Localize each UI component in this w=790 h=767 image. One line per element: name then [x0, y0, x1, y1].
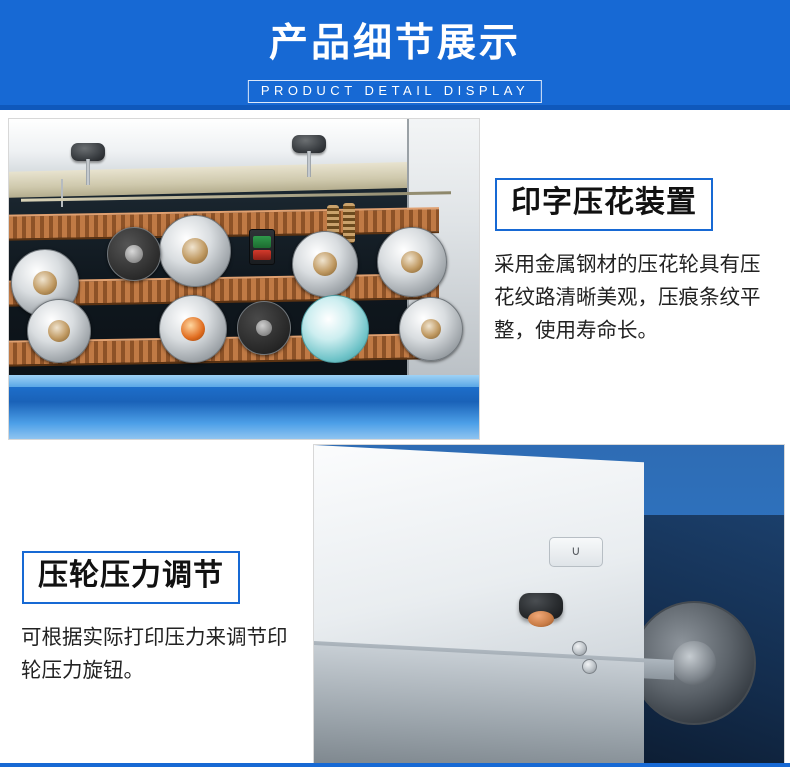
subtitle-frame: PRODUCT DETAIL DISPLAY	[248, 80, 542, 103]
gear-wheel-e	[27, 299, 91, 363]
photo-roller-pressure-adjustment: ∪	[313, 444, 785, 766]
section2-heading: 压轮压力调节	[38, 558, 224, 594]
section1-heading: 印字压花装置	[511, 185, 697, 221]
screw-lower	[582, 659, 597, 674]
section2-heading-box: 压轮压力调节	[22, 551, 240, 604]
adjust-knob-right	[292, 135, 326, 153]
page-subtitle: PRODUCT DETAIL DISPLAY	[261, 83, 529, 99]
gear-wheel-dark-2	[237, 301, 291, 355]
gear-wheel-f	[159, 295, 227, 363]
gear-wheel-a	[159, 215, 231, 287]
header-banner: 产品细节展示 PRODUCT DETAIL DISPLAY	[0, 0, 790, 110]
gear-wheel-teal	[301, 295, 369, 363]
banner-bottom-stripe	[0, 105, 790, 110]
gear-wheel-c	[377, 227, 447, 297]
section2-body: 可根据实际打印压力来调节印轮压力旋钮。	[21, 621, 301, 687]
section1-heading-box: 印字压花装置	[495, 178, 713, 231]
knob-shaft-left	[61, 179, 63, 207]
section1-body: 采用金属钢材的压花轮具有压花纹路清晰美观，压痕条纹平整，使用寿命长。	[494, 248, 778, 347]
adjust-knob-left	[71, 143, 105, 161]
product-detail-page: 产品细节展示 PRODUCT DETAIL DISPLAY	[0, 0, 790, 767]
cover-emblem: ∪	[549, 537, 603, 567]
machine-blue-highlight	[9, 375, 479, 387]
gear-wheel-b	[292, 231, 358, 297]
pressure-adjust-knob	[519, 593, 563, 619]
gear-wheel-g	[399, 297, 463, 361]
screw-upper	[572, 641, 587, 656]
page-title: 产品细节展示	[0, 22, 790, 66]
gear-wheel-dark	[107, 227, 161, 281]
footer-stripe	[0, 763, 790, 767]
power-switch	[249, 229, 275, 265]
photo-printing-embossing-device	[8, 118, 480, 440]
